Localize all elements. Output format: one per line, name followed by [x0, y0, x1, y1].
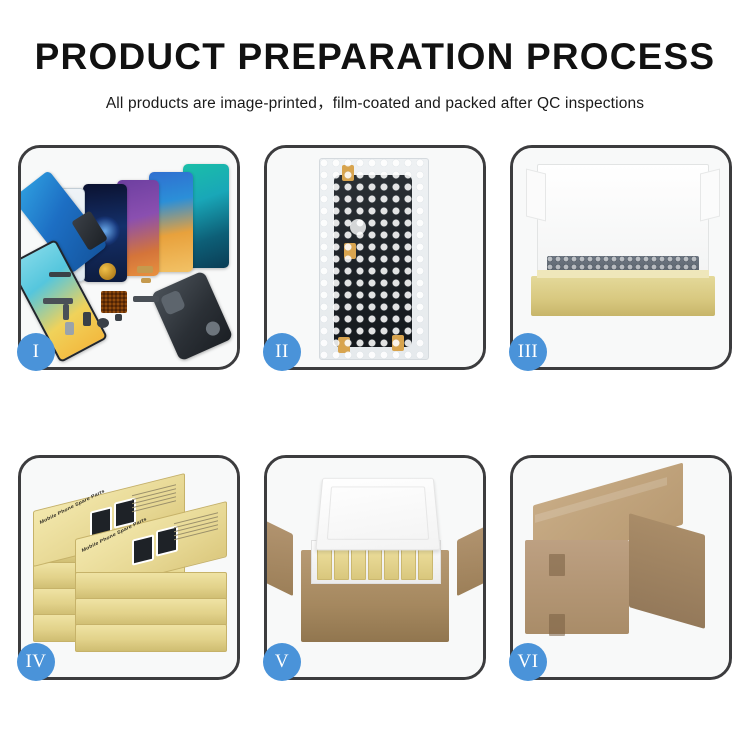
component-sim-tray	[65, 322, 74, 335]
process-steps-grid: I II III	[18, 145, 732, 680]
stacked-box	[75, 572, 227, 600]
component-connector	[137, 266, 153, 273]
carton-tape-upper	[549, 554, 565, 576]
step-number-badge: I	[17, 333, 55, 371]
process-step-1: I	[18, 145, 240, 370]
carton-flap-right	[457, 516, 483, 596]
stacked-box	[75, 598, 227, 626]
component-button	[97, 318, 109, 328]
process-step-2: II	[264, 145, 486, 370]
component-bar	[49, 272, 71, 277]
speaker-coil-part	[99, 263, 116, 280]
component-connector-small	[141, 278, 151, 283]
page-subtitle: All products are image-printed，film-coat…	[0, 91, 750, 113]
box-artwork-screen	[132, 534, 154, 565]
step-number-badge: IV	[17, 643, 55, 681]
step-number-badge: III	[509, 333, 547, 371]
process-step-5: V	[264, 455, 486, 680]
box-spec-lines	[174, 512, 218, 549]
phone-back-housing	[150, 270, 233, 361]
page-title: PRODUCT PREPARATION PROCESS	[0, 38, 750, 75]
bubble-texture	[320, 159, 428, 359]
flex-cable-c	[133, 296, 159, 302]
carton-side-face	[629, 513, 705, 629]
phone-parts-scene	[21, 148, 237, 367]
step-number-badge: V	[263, 643, 301, 681]
process-step-4: Mobile Phone Spare Parts Mobile Phone Sp…	[18, 455, 240, 680]
stacked-box	[75, 624, 227, 652]
header: PRODUCT PREPARATION PROCESS All products…	[0, 0, 750, 113]
carton-tape-lower	[549, 614, 565, 636]
process-step-3: III	[510, 145, 732, 370]
step-3-image	[513, 148, 729, 367]
step-5-image	[267, 458, 483, 677]
component-module	[83, 312, 91, 326]
carton-flap-left	[267, 510, 293, 596]
product-preparation-infographic: PRODUCT PREPARATION PROCESS All products…	[0, 0, 750, 750]
step-1-image	[21, 148, 237, 367]
component-screw	[115, 314, 122, 321]
step-6-image	[513, 458, 729, 677]
bubble-wrap-bag	[319, 158, 429, 360]
chip-array-part	[101, 291, 127, 313]
foam-lid	[315, 478, 440, 551]
carton-front-face	[525, 540, 629, 634]
step-number-badge: VI	[509, 643, 547, 681]
process-step-6: VI	[510, 455, 732, 680]
flex-cable-b	[63, 304, 69, 320]
step-4-image: Mobile Phone Spare Parts Mobile Phone Sp…	[21, 458, 237, 677]
step-2-image	[267, 148, 483, 367]
retail-box-stack: Mobile Phone Spare Parts Mobile Phone Sp…	[29, 476, 229, 666]
kraft-box-tray	[531, 276, 715, 316]
flex-cable-a	[43, 298, 73, 304]
step-number-badge: II	[263, 333, 301, 371]
